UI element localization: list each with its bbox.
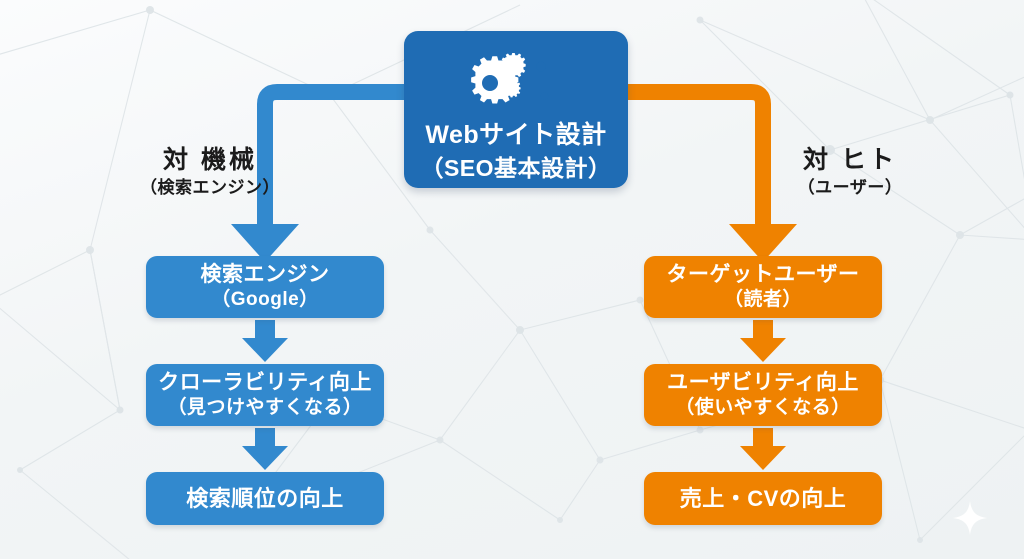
left-node-search-engine[interactable]: 検索エンジン （Google） xyxy=(146,256,384,318)
step-arrow-left-1 xyxy=(242,320,288,362)
left-node-ranking-improvement[interactable]: 検索順位の向上 xyxy=(146,472,384,525)
right-node-target-user[interactable]: ターゲットユーザー （読者） xyxy=(644,256,882,318)
step-arrow-right-1 xyxy=(740,320,786,362)
root-node-title: Webサイト設計 xyxy=(425,121,606,151)
step-arrow-right-2 xyxy=(740,428,786,470)
branch-label-left: 対 機械 （検索エンジン） xyxy=(110,147,310,197)
left-node-2-title: クローラビリティ向上 xyxy=(158,371,372,396)
right-node-2-subtitle: （使いやすくなる） xyxy=(675,397,851,419)
right-node-1-title: ターゲットユーザー xyxy=(666,263,859,288)
right-node-sales-cv[interactable]: 売上・CVの向上 xyxy=(644,472,882,525)
step-arrow-left-2 xyxy=(242,428,288,470)
left-node-crawlability[interactable]: クローラビリティ向上 （見つけやすくなる） xyxy=(146,364,384,426)
branch-label-right-main: 対 ヒト xyxy=(750,147,950,175)
left-node-1-subtitle: （Google） xyxy=(211,289,318,311)
branch-arrow-right xyxy=(628,92,763,226)
right-node-3-title: 売上・CVの向上 xyxy=(680,486,847,512)
right-node-1-subtitle: （読者） xyxy=(724,289,802,311)
right-node-usability[interactable]: ユーザビリティ向上 （使いやすくなる） xyxy=(644,364,882,426)
branch-label-right: 対 ヒト （ユーザー） xyxy=(750,147,950,197)
gears-icon xyxy=(468,51,564,113)
branch-label-right-sub: （ユーザー） xyxy=(750,179,950,198)
left-node-3-title: 検索順位の向上 xyxy=(186,486,344,512)
branch-label-left-sub: （検索エンジン） xyxy=(110,179,310,198)
diagram-canvas: Webサイト設計 （SEO基本設計） 対 機械 （検索エンジン） 対 ヒト （ユ… xyxy=(0,0,1024,559)
right-node-2-title: ユーザビリティ向上 xyxy=(667,371,859,396)
branch-label-left-main: 対 機械 xyxy=(110,147,310,175)
left-node-2-subtitle: （見つけやすくなる） xyxy=(167,397,362,419)
left-node-1-title: 検索エンジン xyxy=(201,263,330,288)
root-node-website-design[interactable]: Webサイト設計 （SEO基本設計） xyxy=(404,31,628,188)
root-node-subtitle: （SEO基本設計） xyxy=(420,155,611,182)
